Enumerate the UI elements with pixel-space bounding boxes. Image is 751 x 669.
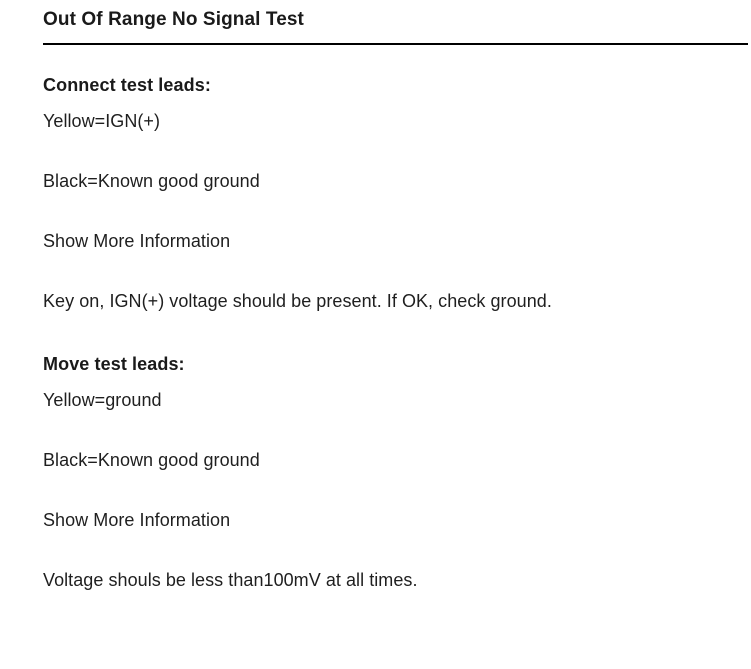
section-heading: Connect test leads: bbox=[43, 73, 731, 97]
instruction-line: Black=Known good ground bbox=[43, 448, 731, 472]
title-block: Out Of Range No Signal Test bbox=[0, 0, 751, 45]
section-move-test-leads: Move test leads: Yellow=ground Black=Kno… bbox=[43, 352, 731, 592]
instruction-line: Yellow=IGN(+) bbox=[43, 109, 731, 133]
show-more-information-link[interactable]: Show More Information bbox=[43, 508, 731, 532]
instruction-line: Key on, IGN(+) voltage should be present… bbox=[43, 289, 731, 313]
procedure-content: Connect test leads: Yellow=IGN(+) Black=… bbox=[0, 45, 751, 592]
section-heading: Move test leads: bbox=[43, 352, 731, 376]
test-procedure-page: Out Of Range No Signal Test Connect test… bbox=[0, 0, 751, 669]
instruction-line: Voltage shouls be less than100mV at all … bbox=[43, 568, 731, 592]
instruction-line: Yellow=ground bbox=[43, 388, 731, 412]
instruction-line: Black=Known good ground bbox=[43, 169, 731, 193]
show-more-information-link[interactable]: Show More Information bbox=[43, 229, 731, 253]
section-connect-test-leads: Connect test leads: Yellow=IGN(+) Black=… bbox=[43, 73, 731, 313]
page-title: Out Of Range No Signal Test bbox=[43, 0, 748, 32]
